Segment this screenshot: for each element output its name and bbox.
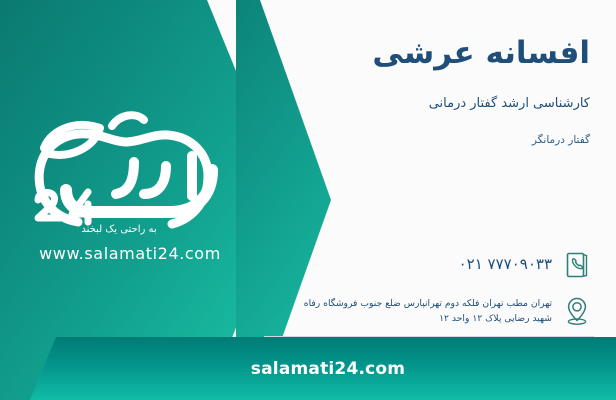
brand-logo: به راحتی یک لبخند www.salamati24.com [16,104,244,274]
apple-leaf-icon [16,104,244,236]
footer-website[interactable]: salamati24.com [211,359,405,379]
person-name: افسانه عرشی [250,34,590,73]
person-info: افسانه عرشی کارشناسی ارشد گفتار درمانی گ… [250,34,590,148]
business-card: به راحتی یک لبخند www.salamati24.com افس… [0,0,616,400]
footer-bar: salamati24.com [0,337,616,400]
logo-website: www.salamati24.com [16,244,244,263]
phone-number[interactable]: ۷۷۷۰۹۰۳۳ ۰۲۱ [234,255,560,275]
address-line-2: شهید رضایی پلاک ۱۲ واحد ۱۲ [234,311,552,326]
address-line-1: تهران مطب تهران فلکه دوم تهرانپارس ضلع ج… [234,296,552,311]
address-text: تهران مطب تهران فلکه دوم تهرانپارس ضلع ج… [234,296,560,326]
person-job-title: گفتار درمانگر [250,133,590,148]
contact-row-phone: ۷۷۷۰۹۰۳۳ ۰۲۱ [234,246,594,284]
logo-slogan: به راحتی یک لبخند [16,224,222,235]
divider [264,336,594,337]
person-degree: کارشناسی ارشد گفتار درمانی [250,95,590,113]
map-pin-icon [560,292,594,330]
phone-book-icon [560,246,594,284]
contact-list: ۷۷۷۰۹۰۳۳ ۰۲۱ تهران مطب تهران فلکه دوم ته… [234,246,594,338]
contact-row-address: تهران مطب تهران فلکه دوم تهرانپارس ضلع ج… [234,292,594,330]
